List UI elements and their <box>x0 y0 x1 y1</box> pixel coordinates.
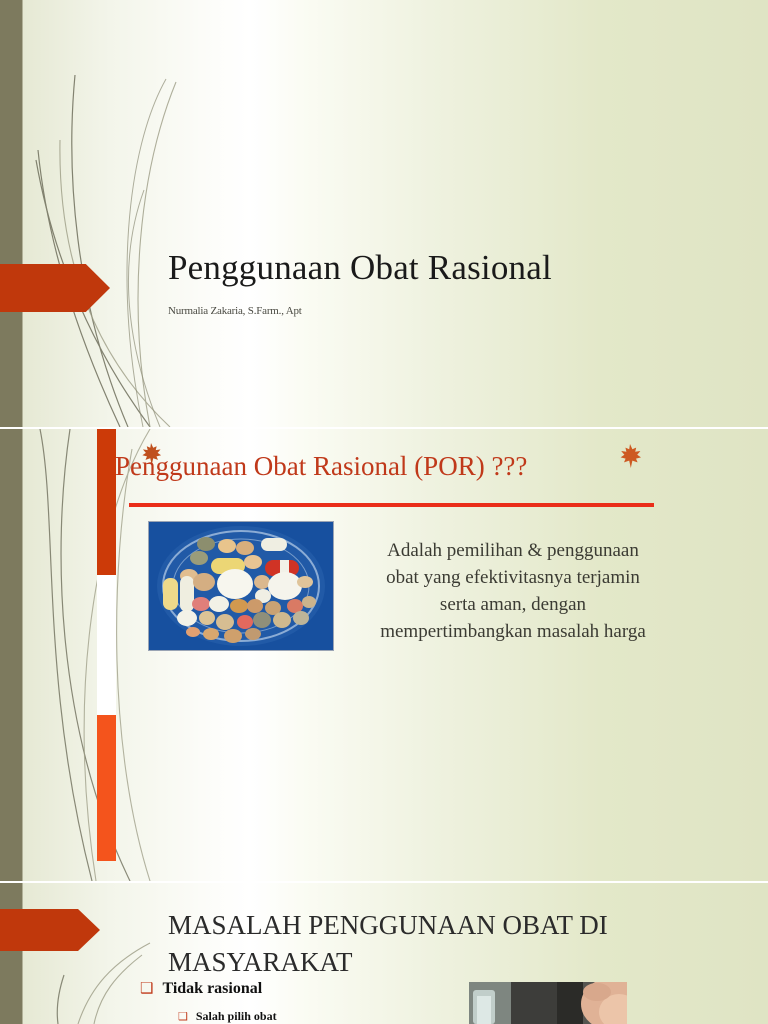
slide-3: MASALAH PENGGUNAAN OBAT DI MASYARAKAT ❑ … <box>0 883 768 1024</box>
bullet-glyph-icon: ❑ <box>178 1010 188 1023</box>
slide-1: Penggunaan Obat Rasional Nurmalia Zakari… <box>0 0 768 427</box>
maple-leaf-icon <box>618 443 642 469</box>
slide3-bullet-1: ❑ Tidak rasional <box>140 979 262 998</box>
grass-decoration-1 <box>0 0 768 427</box>
slide3-bullet-2: ❑ Salah pilih obat <box>178 1009 277 1024</box>
slide3-bullet-1-label: Tidak rasional <box>162 980 262 998</box>
slide2-title: Penggunaan Obat Rasional (POR) ??? <box>115 451 527 482</box>
slide2-title-rule <box>129 503 654 507</box>
pills-photo <box>148 521 334 651</box>
slide2-definition: Adalah pemilihan & penggunaan obat yang … <box>372 537 654 645</box>
slide2-accent-bar-top <box>97 429 116 575</box>
slide-separator-1 <box>0 427 768 429</box>
slide2-accent-bar-bottom <box>97 715 116 861</box>
bullet-glyph-icon: ❑ <box>140 979 153 998</box>
slide1-accent-tab <box>0 264 110 312</box>
slide3-bullet-2-label: Salah pilih obat <box>196 1009 277 1024</box>
presentation-page: Penggunaan Obat Rasional Nurmalia Zakari… <box>0 0 768 1024</box>
slide-2: Penggunaan Obat Rasional (POR) ??? <box>0 429 768 881</box>
slide2-accent-bar-middle <box>97 575 116 715</box>
slide-separator-2 <box>0 881 768 883</box>
slide1-subtitle: Nurmalia Zakaria, S.Farm., Apt <box>168 305 302 317</box>
person-photo <box>469 982 627 1024</box>
slide1-title: Penggunaan Obat Rasional <box>168 248 552 288</box>
slide3-title: MASALAH PENGGUNAAN OBAT DI MASYARAKAT <box>168 907 688 981</box>
slide3-accent-tab <box>0 909 100 951</box>
